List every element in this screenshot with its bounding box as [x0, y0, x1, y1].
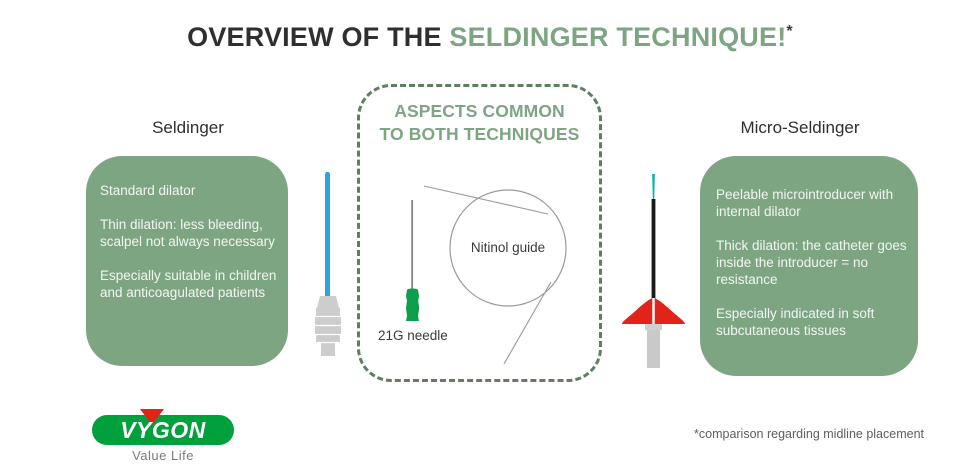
- micro-seldinger-illustration: [620, 172, 686, 372]
- micro-seldinger-bullet-2: Thick dilation: the catheter goes inside…: [716, 237, 918, 288]
- dilator-shaft: [325, 174, 330, 298]
- footnote: *comparison regarding midline placement: [694, 427, 924, 441]
- page-title-dark: OVERVIEW OF THE: [187, 22, 449, 52]
- needle-hub: [406, 289, 419, 322]
- nitinol-guide-label: Nitinol guide: [448, 240, 568, 255]
- column-heading-micro-seldinger: Micro-Seldinger: [700, 118, 900, 138]
- vygon-logo: VYGON Value Life: [78, 409, 248, 463]
- aspects-common-heading: ASPECTS COMMON TO BOTH TECHNIQUES: [357, 100, 602, 146]
- aspects-heading-line-2: TO BOTH TECHNIQUES: [380, 124, 580, 144]
- nitinol-guide-illustration: [420, 170, 590, 370]
- page-title-green: SELDINGER TECHNIQUE!: [449, 22, 786, 52]
- logo-tagline: Value Life: [78, 448, 248, 463]
- seldinger-bullet-3: Especially suitable in children and anti…: [100, 267, 288, 301]
- logo-wordmark: VYGON: [120, 417, 206, 443]
- seldinger-bullet-2: Thin dilation: less bleeding, scalpel no…: [100, 216, 288, 250]
- introducer-wing-left: [622, 298, 653, 324]
- introducer-tip: [652, 174, 655, 200]
- vygon-logo-mark: VYGON: [78, 409, 248, 447]
- page-title-asterisk: *: [786, 23, 792, 40]
- dilator-tip: [325, 172, 330, 174]
- page-title: OVERVIEW OF THE SELDINGER TECHNIQUE!*: [0, 22, 980, 53]
- micro-seldinger-bullet-3: Especially indicated in soft subcutaneou…: [716, 305, 918, 339]
- column-heading-seldinger: Seldinger: [88, 118, 288, 138]
- card-micro-seldinger: Peelable microintroducer with internal d…: [700, 156, 918, 376]
- seldinger-dilator-illustration: [300, 172, 358, 357]
- introducer-shaft: [652, 199, 656, 303]
- guide-wire-tail-upper: [424, 186, 548, 214]
- micro-seldinger-bullet-1: Peelable microintroducer with internal d…: [716, 186, 918, 220]
- guide-wire-tail-lower: [504, 282, 551, 364]
- aspects-heading-line-1: ASPECTS COMMON: [394, 101, 565, 121]
- introducer-wing-right: [654, 298, 685, 324]
- needle-shaft: [411, 200, 413, 290]
- introducer-hub-line: [652, 298, 655, 324]
- card-seldinger: Standard dilator Thin dilation: less ble…: [86, 156, 288, 366]
- seldinger-bullet-1: Standard dilator: [100, 182, 288, 199]
